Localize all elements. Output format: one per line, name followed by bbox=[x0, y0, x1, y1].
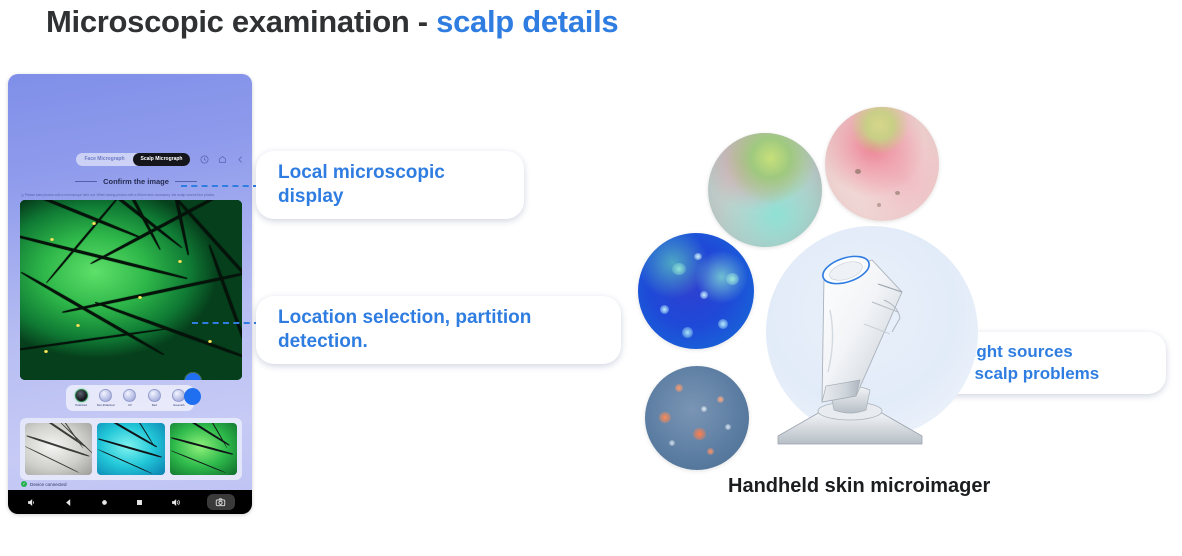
capture-hint-text: ◻ Please take photos with a microscope h… bbox=[21, 192, 249, 198]
mode-knob-icon bbox=[123, 389, 136, 402]
page-title-main: Microscopic examination - bbox=[46, 4, 436, 39]
follicle-highlight bbox=[44, 350, 48, 353]
page-title: Microscopic examination - scalp details bbox=[46, 4, 618, 40]
mode-knob-icon bbox=[148, 389, 161, 402]
sample-texture bbox=[638, 233, 754, 349]
leader-line-location-selection bbox=[192, 322, 260, 324]
home-icon[interactable] bbox=[100, 498, 109, 507]
mode-knob-icon bbox=[75, 389, 88, 402]
mode-label: Red bbox=[152, 403, 157, 407]
follicle-highlight bbox=[138, 296, 142, 299]
location-selection-marker-dot[interactable] bbox=[184, 388, 201, 405]
micrograph-tab-group[interactable]: Face Micrograph Scalp Micrograph bbox=[76, 153, 190, 166]
sample-image-porphyrin-red bbox=[645, 366, 749, 470]
thumbnail-cyan[interactable] bbox=[97, 423, 164, 475]
callout-location-selection: Location selection, partition detection. bbox=[256, 296, 621, 364]
callout-line-2: detection. bbox=[278, 330, 531, 354]
sample-image-pink-skin bbox=[825, 107, 939, 221]
sample-image-uv-blue bbox=[638, 233, 754, 349]
callout-line-2: display bbox=[278, 185, 445, 209]
mode-label: UV bbox=[128, 403, 132, 407]
mode-label: Non-Polarized bbox=[97, 403, 115, 407]
callout-line-1: Local microscopic bbox=[278, 161, 445, 185]
follicle-highlight bbox=[76, 324, 80, 327]
handheld-microimager-device bbox=[760, 240, 950, 455]
check-icon: ✓ bbox=[21, 481, 27, 487]
mode-red[interactable]: Red bbox=[143, 389, 165, 407]
history-icon[interactable] bbox=[200, 155, 209, 164]
follicle-highlight bbox=[178, 260, 182, 263]
sample-texture bbox=[825, 107, 939, 221]
status-badge: ✓ Device connected bbox=[21, 481, 67, 487]
recents-icon[interactable] bbox=[135, 498, 144, 507]
mode-label: Polarized bbox=[75, 403, 87, 407]
tablet-device-mockup: Face Micrograph Scalp Micrograph Confirm… bbox=[8, 74, 252, 514]
tab-face-micrograph[interactable]: Face Micrograph bbox=[76, 153, 133, 166]
volume-up-icon[interactable] bbox=[170, 497, 181, 508]
capture-thumbnail-strip[interactable] bbox=[20, 418, 242, 480]
mode-non-polarized[interactable]: Non-Polarized bbox=[95, 389, 117, 407]
thumbnail-grayscale[interactable] bbox=[25, 423, 92, 475]
leader-line-local-display bbox=[181, 185, 259, 187]
status-label: Device connected bbox=[30, 482, 67, 487]
page-title-accent: scalp details bbox=[436, 4, 618, 39]
hint-text: Please take photos with a microscope hel… bbox=[25, 193, 215, 197]
home-icon[interactable] bbox=[218, 155, 227, 164]
confirm-image-label: Confirm the image bbox=[103, 177, 169, 186]
back-icon[interactable] bbox=[63, 497, 74, 508]
thumbnail-image bbox=[25, 423, 92, 475]
follicle-highlight bbox=[92, 222, 96, 225]
sample-image-teal-lesion bbox=[708, 133, 822, 247]
callout-local-microscopic-display: Local microscopic display bbox=[256, 151, 524, 219]
follicle-highlight bbox=[50, 238, 54, 241]
microscope-live-view[interactable] bbox=[20, 200, 242, 380]
thumbnail-image bbox=[170, 423, 237, 475]
mode-uv[interactable]: UV bbox=[119, 389, 141, 407]
confirm-dash-right bbox=[175, 181, 197, 182]
callout-line-1: Location selection, partition bbox=[278, 306, 531, 330]
screenshot-icon[interactable] bbox=[207, 494, 235, 510]
sample-texture bbox=[708, 133, 822, 247]
light-mode-selector[interactable]: Polarized Non-Polarized UV Red Greenish bbox=[66, 385, 194, 411]
device-caption: Handheld skin microimager bbox=[728, 475, 990, 498]
mode-label: Greenish bbox=[173, 403, 184, 407]
back-icon[interactable] bbox=[236, 155, 245, 164]
tab-scalp-micrograph[interactable]: Scalp Micrograph bbox=[133, 153, 190, 166]
mode-knob-icon bbox=[99, 389, 112, 402]
volume-down-icon[interactable] bbox=[26, 497, 37, 508]
follicle-highlight bbox=[208, 340, 212, 343]
confirm-dash-left bbox=[75, 181, 97, 182]
thumbnail-green[interactable] bbox=[170, 423, 237, 475]
mode-polarized[interactable]: Polarized bbox=[70, 389, 92, 407]
tablet-header-icons bbox=[200, 152, 252, 166]
android-navigation-bar[interactable] bbox=[8, 490, 252, 514]
